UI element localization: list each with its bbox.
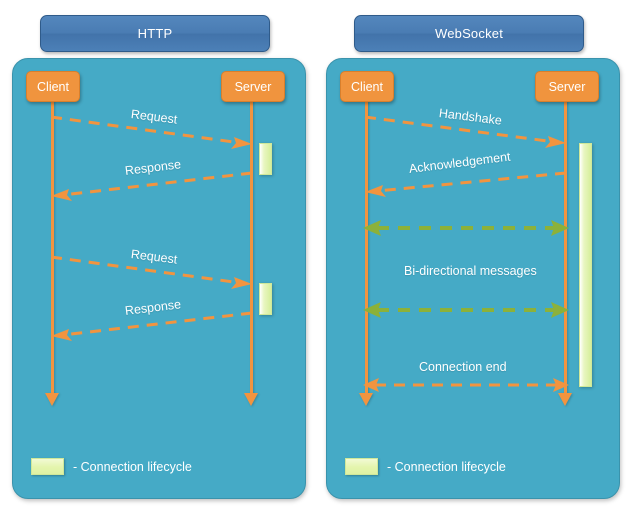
websocket-lifecycle-bar xyxy=(579,143,592,387)
http-server-lifeline-arrowhead xyxy=(244,393,258,406)
http-panel-body: Client Server Request xyxy=(12,58,306,499)
http-lifecycle-bar-2 xyxy=(259,283,272,315)
http-client-label: Client xyxy=(37,80,69,94)
http-panel-group: HTTP Client Server Reques xyxy=(10,0,312,511)
websocket-legend-label: - Connection lifecycle xyxy=(387,460,506,474)
http-server-label: Server xyxy=(235,80,272,94)
websocket-message-connection-end xyxy=(363,376,573,396)
http-client-node: Client xyxy=(26,71,80,102)
websocket-legend-swatch xyxy=(345,458,378,475)
websocket-client-label: Client xyxy=(351,80,383,94)
sequence-diagram-canvas: HTTP Client Server Reques xyxy=(0,0,628,511)
websocket-server-label: Server xyxy=(549,80,586,94)
http-title-box: HTTP xyxy=(40,15,270,52)
websocket-panel-group: WebSocket Client Server Handshak xyxy=(324,0,626,511)
websocket-message-bidirectional-2 xyxy=(363,301,573,321)
http-legend-label: - Connection lifecycle xyxy=(73,460,192,474)
http-lifecycle-bar-1 xyxy=(259,143,272,175)
http-legend: - Connection lifecycle xyxy=(31,458,192,475)
websocket-panel-body: Client Server Handshake xyxy=(326,58,620,499)
websocket-message-label-bidirectional: Bi-directional messages xyxy=(404,264,537,278)
http-legend-swatch xyxy=(31,458,64,475)
websocket-title-label: WebSocket xyxy=(435,26,503,41)
http-client-lifeline-arrowhead xyxy=(45,393,59,406)
websocket-message-label-connection-end: Connection end xyxy=(419,360,507,374)
websocket-title-box: WebSocket xyxy=(354,15,584,52)
websocket-message-acknowledgement xyxy=(363,167,573,207)
http-server-node: Server xyxy=(221,71,285,102)
websocket-legend: - Connection lifecycle xyxy=(345,458,506,475)
websocket-client-node: Client xyxy=(340,71,394,102)
websocket-message-bidirectional-1 xyxy=(363,219,573,239)
websocket-server-node: Server xyxy=(535,71,599,102)
http-title-label: HTTP xyxy=(138,26,173,41)
